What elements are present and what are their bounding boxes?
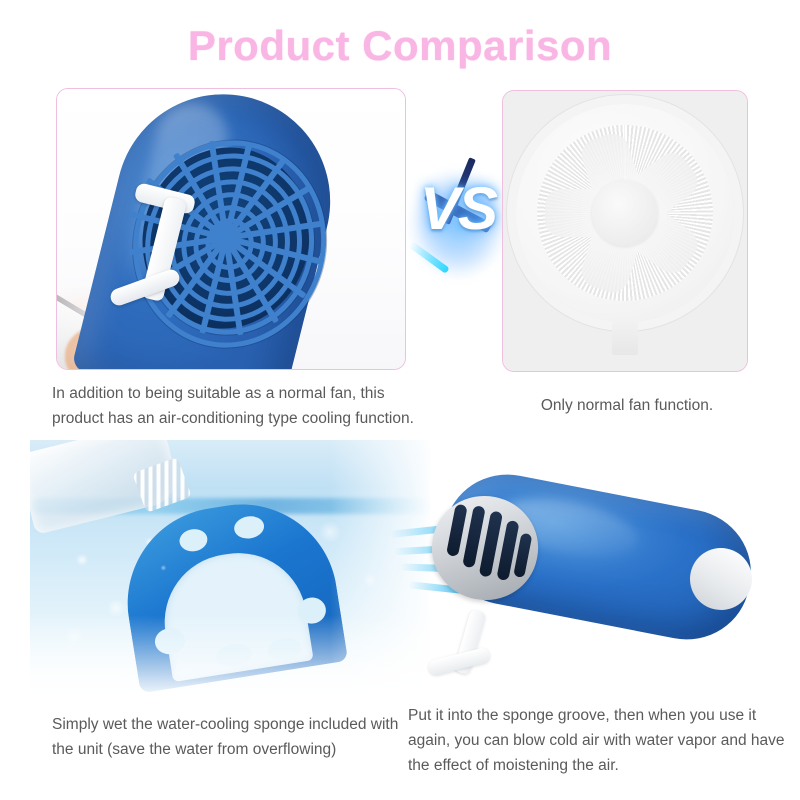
versus-badge: VS xyxy=(404,160,512,288)
versus-slash-upper-icon xyxy=(443,157,476,225)
white-fan-guard xyxy=(516,104,734,322)
comparison-panel-left xyxy=(56,88,406,370)
white-fan-neck xyxy=(612,321,638,355)
versus-slash-middle-icon xyxy=(424,190,493,234)
blue-fan-product xyxy=(390,474,770,664)
caption-right-bottom: Put it into the sponge groove, then when… xyxy=(408,703,798,778)
product-comparison-infographic: Product Comparison VS xyxy=(0,0,800,800)
caption-right-top: Only normal fan function. xyxy=(502,393,752,418)
versus-slash-lower-icon xyxy=(408,241,449,274)
versus-glow xyxy=(410,170,506,278)
caption-left-bottom: Simply wet the water-cooling sponge incl… xyxy=(52,712,412,762)
photo-fade-bottom xyxy=(30,615,450,705)
comparison-panel-right xyxy=(502,90,748,372)
caption-left-top: In addition to being suitable as a norma… xyxy=(52,381,432,431)
bottom-photo-strip xyxy=(30,440,800,705)
white-desk-fan-photo xyxy=(503,91,747,371)
blue-handheld-fan-photo xyxy=(57,89,405,369)
white-fan-hub xyxy=(592,180,658,246)
page-title: Product Comparison xyxy=(0,22,800,70)
versus-label: VS xyxy=(404,174,512,243)
